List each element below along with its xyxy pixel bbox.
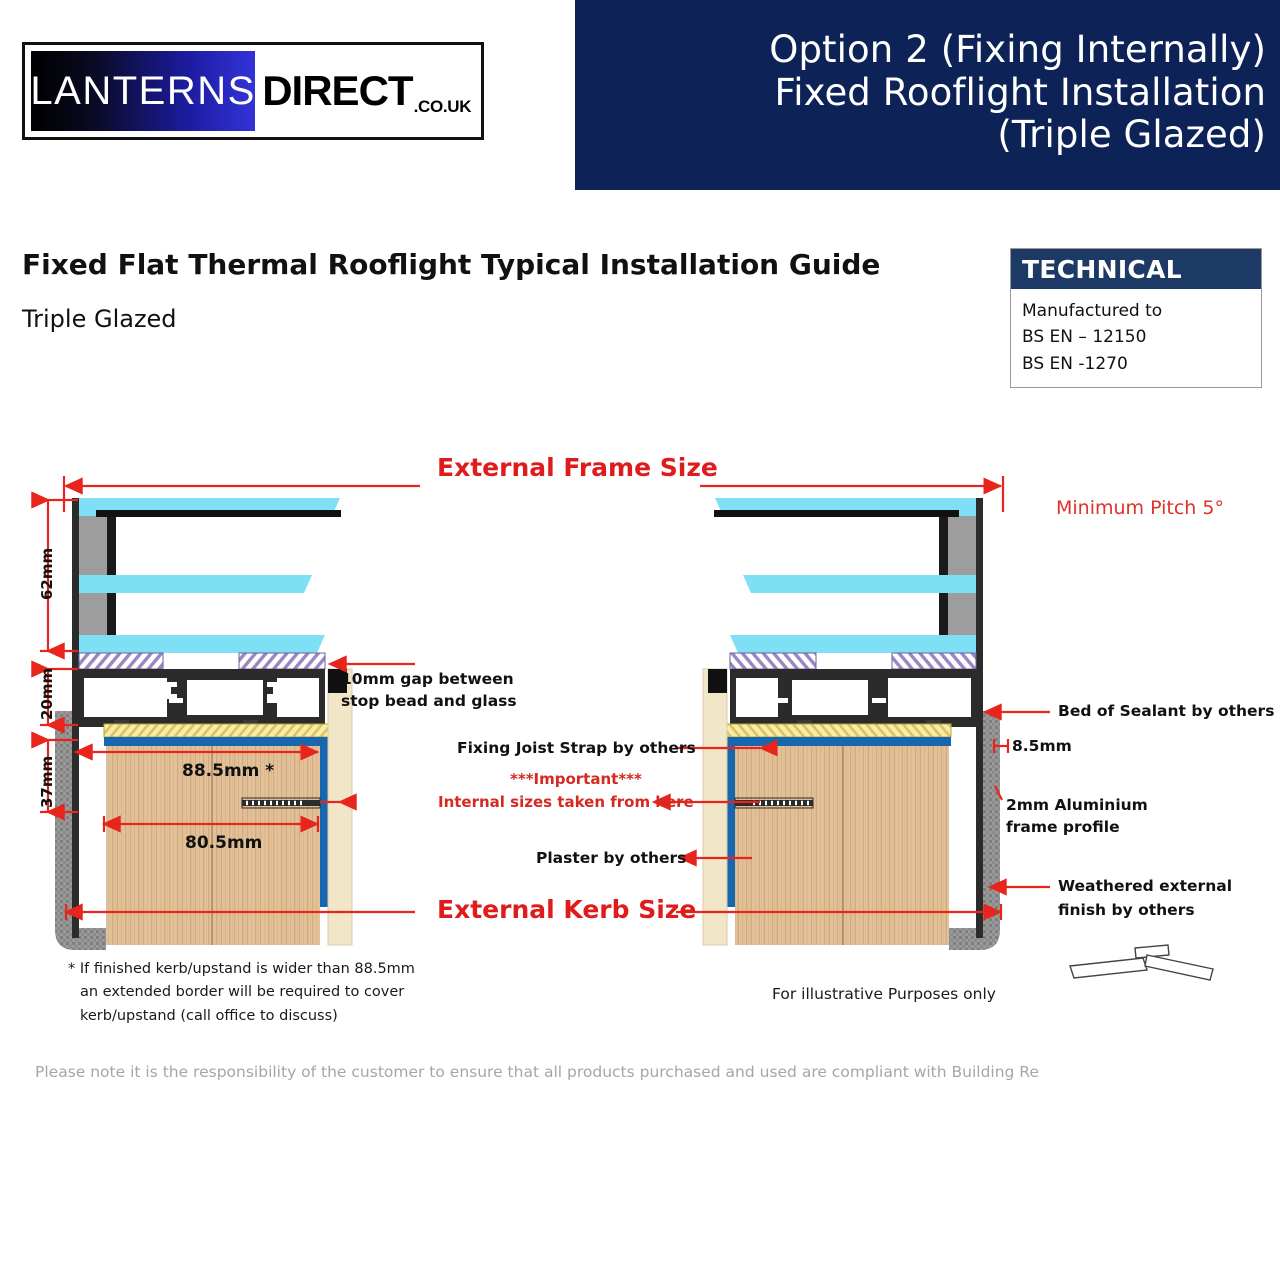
label-bed-of-sealant: Bed of Sealant by others	[1058, 702, 1274, 720]
logo-direct-text: DIRECT	[262, 67, 412, 115]
brand-logo: LANTERNS DIRECT .CO.UK	[22, 42, 484, 140]
label-important-title: ***Important***	[510, 770, 642, 788]
left-section-assembly	[55, 498, 353, 950]
setting-block-b-left	[239, 653, 325, 669]
logo-direct-block: DIRECT .CO.UK	[255, 51, 475, 131]
glass-spacer-top-left	[96, 510, 341, 517]
technical-box-header: TECHNICAL	[1011, 249, 1261, 289]
label-88-5mm: 88.5mm *	[182, 761, 274, 781]
kerb-footnote-line-2: kerb/upstand (call office to discuss)	[68, 1005, 488, 1028]
label-8-5mm: 8.5mm	[1012, 737, 1072, 755]
header-banner: Option 2 (Fixing Internally) Fixed Roofl…	[575, 0, 1280, 190]
page-subtitle: Triple Glazed	[22, 305, 177, 333]
cross-section-diagram: External Frame Size External Kerb Size 6…	[0, 420, 1280, 1000]
kerb-footnote: * If finished kerb/upstand is wider than…	[68, 958, 488, 1028]
aluminium-extrusion-right	[730, 669, 983, 727]
label-stop-bead-gap-line1: 10mm gap between	[341, 670, 514, 688]
illustrative-note: For illustrative Purposes only	[772, 985, 996, 1003]
membrane-horizontal-left	[104, 737, 328, 746]
weathered-finish-left	[55, 711, 106, 950]
logo-tld-text: .CO.UK	[414, 97, 472, 117]
timber-kerb-right	[735, 746, 949, 945]
logo-lanterns-block: LANTERNS	[31, 51, 255, 131]
header-title-line2: Fixed Rooflight Installation	[769, 72, 1266, 115]
glass-pane-inner-left	[79, 635, 325, 653]
label-aluminium-profile-line2: frame profile	[1006, 818, 1120, 836]
kerb-footnote-line-0: * If finished kerb/upstand is wider than…	[68, 958, 488, 981]
header-title-line3: (Triple Glazed)	[769, 114, 1266, 157]
technical-heading: TECHNICAL	[1022, 255, 1182, 284]
label-aluminium-profile-line1: 2mm Aluminium	[1006, 796, 1148, 814]
bed-of-sealant-left	[104, 724, 328, 737]
label-external-frame-size: External Frame Size	[437, 453, 718, 482]
glass-pane-middle-right	[743, 575, 976, 593]
aluminium-extrusion-left	[72, 669, 353, 727]
label-weathered-finish-line2: finish by others	[1058, 901, 1195, 919]
plaster-right	[703, 669, 727, 945]
minimum-pitch-icon	[1070, 945, 1213, 980]
glass-pane-inner-right	[730, 635, 976, 653]
glass-pane-middle-left	[79, 575, 312, 593]
label-37mm: 37mm	[38, 756, 56, 808]
bed-of-sealant-right	[727, 724, 951, 737]
label-fixing-joist-strap: Fixing Joist Strap by others	[457, 739, 696, 757]
stop-bead-right	[708, 669, 727, 693]
glass-spacer-top-right	[714, 510, 959, 517]
header-title-group: Option 2 (Fixing Internally) Fixed Roofl…	[769, 29, 1266, 158]
setting-block-a-right	[892, 653, 976, 669]
right-section-assembly	[703, 498, 1000, 950]
technical-line-1: BS EN – 12150	[1022, 324, 1261, 350]
technical-line-0: Manufactured to	[1022, 298, 1261, 324]
label-80-5mm: 80.5mm	[185, 833, 262, 853]
label-important-body: Internal sizes taken from here	[438, 793, 694, 811]
plaster-left	[328, 669, 352, 945]
header-title-line1: Option 2 (Fixing Internally)	[769, 29, 1266, 72]
label-20mm: 20mm	[38, 668, 56, 720]
label-plaster: Plaster by others	[536, 849, 686, 867]
label-62mm: 62mm	[38, 548, 56, 600]
label-stop-bead-gap-line2: stop bead and glass	[341, 692, 517, 710]
label-external-kerb-size: External Kerb Size	[437, 895, 696, 924]
technical-line-2: BS EN -1270	[1022, 351, 1261, 377]
technical-box-body: Manufactured to BS EN – 12150 BS EN -127…	[1011, 289, 1261, 377]
logo-lanterns-text: LANTERNS	[30, 69, 255, 114]
membrane-horizontal-right	[727, 737, 951, 746]
setting-block-a-left	[79, 653, 163, 669]
kerb-footnote-line-1: an extended border will be required to c…	[68, 981, 488, 1004]
technical-box: TECHNICAL Manufactured to BS EN – 12150 …	[1010, 248, 1262, 388]
weathered-finish-right	[949, 711, 1000, 950]
page-title: Fixed Flat Thermal Rooflight Typical Ins…	[22, 248, 880, 281]
setting-block-b-right	[730, 653, 816, 669]
label-weathered-finish-line1: Weathered external	[1058, 877, 1232, 895]
disclaimer-note: Please note it is the responsibility of …	[35, 1063, 1039, 1081]
label-minimum-pitch: Minimum Pitch 5°	[1056, 497, 1224, 519]
